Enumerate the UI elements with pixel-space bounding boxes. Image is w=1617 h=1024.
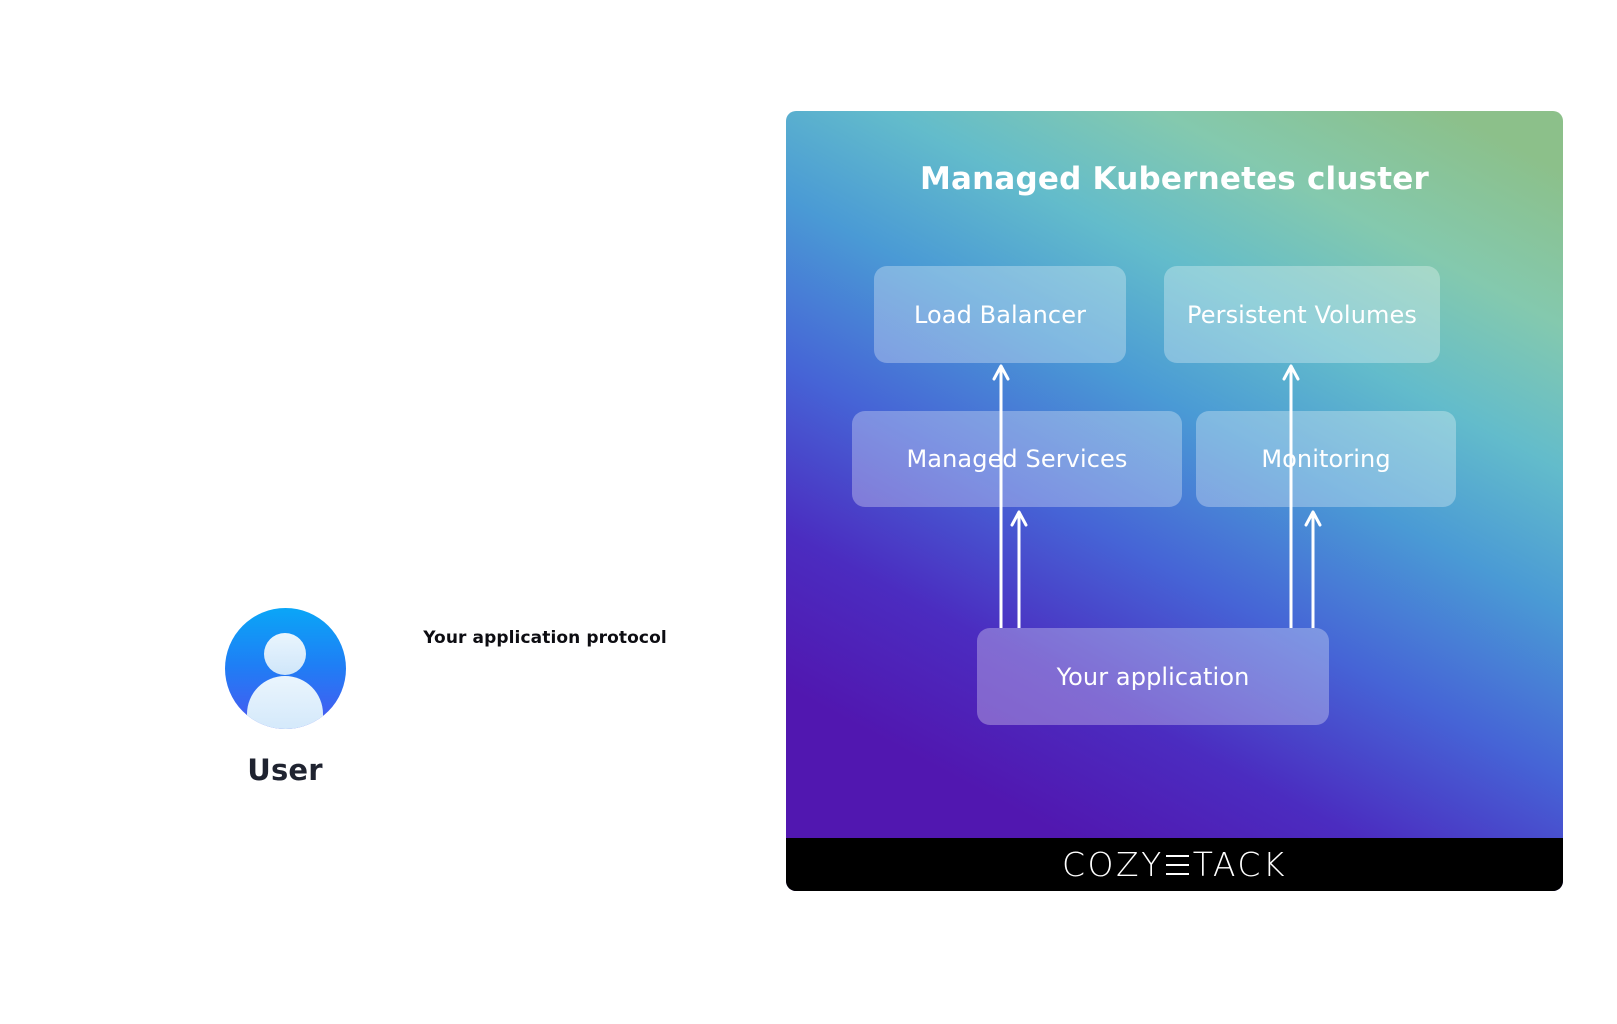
- connector-label: Your application protocol: [400, 628, 690, 648]
- user-actor-label: User: [185, 753, 385, 787]
- avatar-body-shape: [247, 676, 323, 729]
- user-actor: User: [185, 608, 385, 787]
- node-your-application[interactable]: Your application: [977, 628, 1329, 725]
- avatar-head-shape: [264, 633, 306, 675]
- diagram-canvas: User Your application protocol Managed K…: [0, 0, 1617, 1024]
- node-load-balancer[interactable]: Load Balancer: [874, 266, 1126, 363]
- managed-kubernetes-cluster-panel: Managed Kubernetes cluster Load Balancer…: [786, 111, 1563, 891]
- user-avatar-icon: [225, 608, 346, 729]
- node-persistent-volumes[interactable]: Persistent Volumes: [1164, 266, 1440, 363]
- node-managed-services[interactable]: Managed Services: [852, 411, 1182, 507]
- node-monitoring[interactable]: Monitoring: [1196, 411, 1456, 507]
